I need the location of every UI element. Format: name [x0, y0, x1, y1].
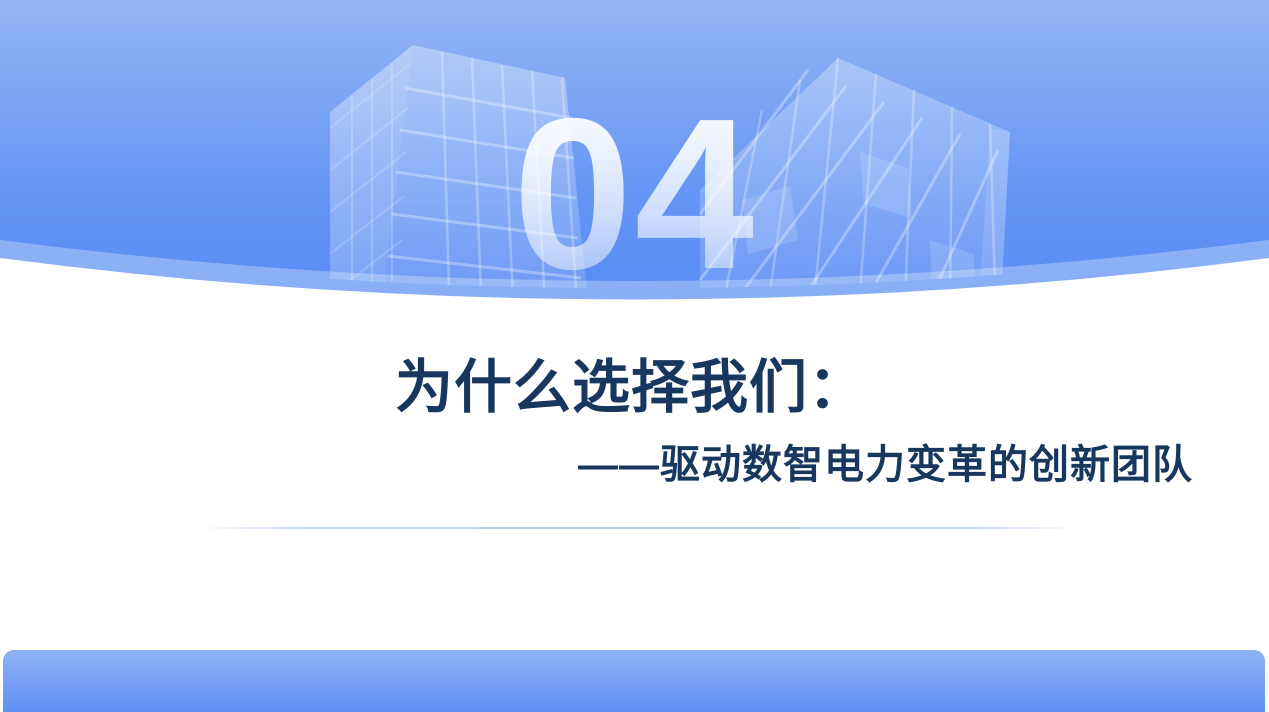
banner-body [0, 0, 1269, 281]
page-title: 为什么选择我们： [0, 352, 1269, 424]
title-block: 为什么选择我们： ——驱动数智电力变革的创新团队 [0, 352, 1269, 492]
slide-canvas: 04 为什么选择我们： ——驱动数智电力变革的创新团队 [0, 0, 1269, 712]
building-left-icon [330, 45, 590, 320]
header-banner: 04 [0, 0, 1269, 320]
page-subtitle: ——驱动数智电力变革的创新团队 [0, 424, 1269, 492]
footer-bar [3, 650, 1265, 712]
banner-graphic [0, 0, 1269, 320]
title-divider [200, 527, 1076, 529]
